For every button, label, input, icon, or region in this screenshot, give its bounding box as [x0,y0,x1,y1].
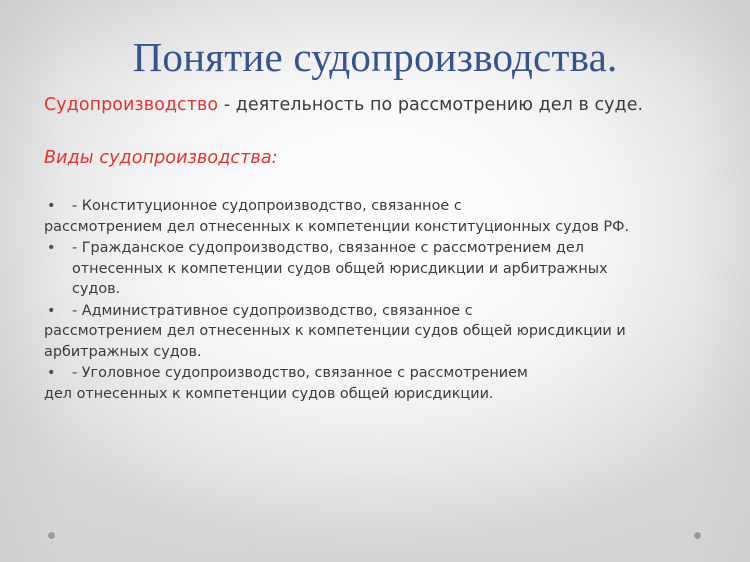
bullet-marker-icon: • [47,301,56,321]
list-item-line: - Уголовное судопроизводство, связанное … [44,363,720,383]
list-item-line: - Гражданское судопроизводство, связанно… [44,238,720,258]
list-item-line: - Конституционное судопроизводство, связ… [44,196,720,216]
list-item-line: рассмотрением дел отнесенных к компетенц… [44,321,720,341]
page-title: Понятие судопроизводства. [0,35,750,81]
list-item: • - Административное судопроизводство, с… [44,301,720,362]
decorative-dot-right-icon [694,532,701,539]
list-item-line: судов. [44,279,720,299]
list-item-line: дел отнесенных к компетенции судов общей… [44,384,720,404]
bullet-marker-icon: • [47,196,56,216]
subheading-types: Виды судопроизводства: [44,117,720,168]
list-item-line: - Административное судопроизводство, свя… [44,301,720,321]
definition-rest: - деятельность по рассмотрению дел в суд… [218,95,643,115]
slide-body: Судопроизводство - деятельность по рассм… [44,94,720,405]
list-item: • - Конституционное судопроизводство, св… [44,196,720,237]
list-item: • - Гражданское судопроизводство, связан… [44,238,720,299]
presentation-slide: Понятие судопроизводства. Судопроизводст… [0,0,750,562]
list-item-line: арбитражных судов. [44,342,720,362]
list-item-line: отнесенных к компетенции судов общей юри… [44,259,720,279]
types-list: • - Конституционное судопроизводство, св… [44,168,720,404]
definition-paragraph: Судопроизводство - деятельность по рассм… [44,94,720,117]
definition-term: Судопроизводство [44,95,218,115]
decorative-dot-left-icon [48,532,55,539]
list-item: • - Уголовное судопроизводство, связанно… [44,363,720,404]
bullet-marker-icon: • [47,238,56,258]
list-item-line: рассмотрением дел отнесенных к компетенц… [44,217,720,237]
bullet-marker-icon: • [47,363,56,383]
